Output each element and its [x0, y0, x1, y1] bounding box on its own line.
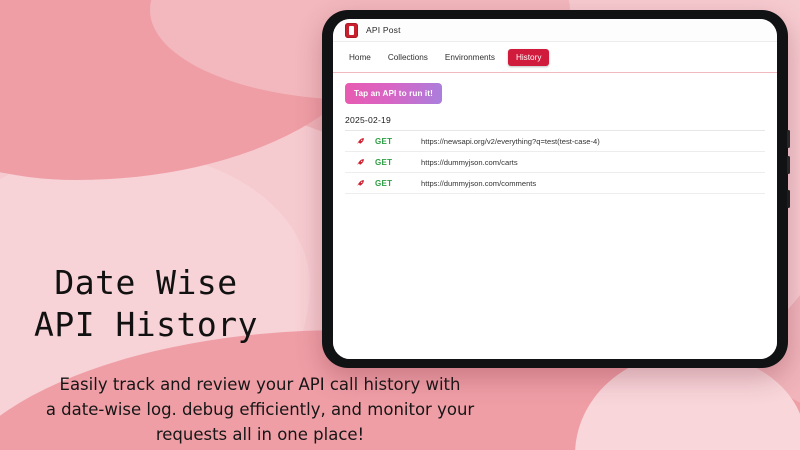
- request-method: GET: [375, 179, 421, 188]
- table-row[interactable]: GET https://dummyjson.com/comments: [345, 173, 765, 194]
- table-row[interactable]: GET https://newsapi.org/v2/everything?q=…: [345, 131, 765, 152]
- request-url: https://newsapi.org/v2/everything?q=test…: [421, 137, 765, 146]
- rocket-icon: [345, 136, 375, 145]
- rocket-icon: [345, 157, 375, 166]
- tab-home[interactable]: Home: [345, 50, 375, 65]
- run-api-hint-button[interactable]: Tap an API to run it!: [345, 83, 442, 104]
- request-method: GET: [375, 137, 421, 146]
- request-method: GET: [375, 158, 421, 167]
- caption: Easily track and review your API call hi…: [0, 372, 520, 447]
- app-titlebar: API Post: [333, 19, 777, 42]
- app-title: API Post: [366, 25, 401, 35]
- promo-poster: Date Wise API History Easily track and r…: [0, 0, 800, 450]
- rocket-icon: [345, 178, 375, 187]
- tab-collections[interactable]: Collections: [384, 50, 432, 65]
- request-url: https://dummyjson.com/comments: [421, 179, 765, 188]
- tablet-device-frame: API Post Home Collections Environments H…: [322, 10, 788, 368]
- table-row[interactable]: GET https://dummyjson.com/carts: [345, 152, 765, 173]
- headline: Date Wise API History: [0, 262, 292, 346]
- request-url: https://dummyjson.com/carts: [421, 158, 765, 167]
- tablet-screen: API Post Home Collections Environments H…: [333, 19, 777, 359]
- main-navigation: Home Collections Environments History: [333, 42, 777, 73]
- history-date-header: 2025-02-19: [345, 115, 765, 131]
- history-panel: Tap an API to run it! 2025-02-19 GET htt…: [333, 73, 777, 359]
- tab-environments[interactable]: Environments: [441, 50, 499, 65]
- postbox-icon: [345, 23, 358, 38]
- tab-history[interactable]: History: [508, 49, 549, 66]
